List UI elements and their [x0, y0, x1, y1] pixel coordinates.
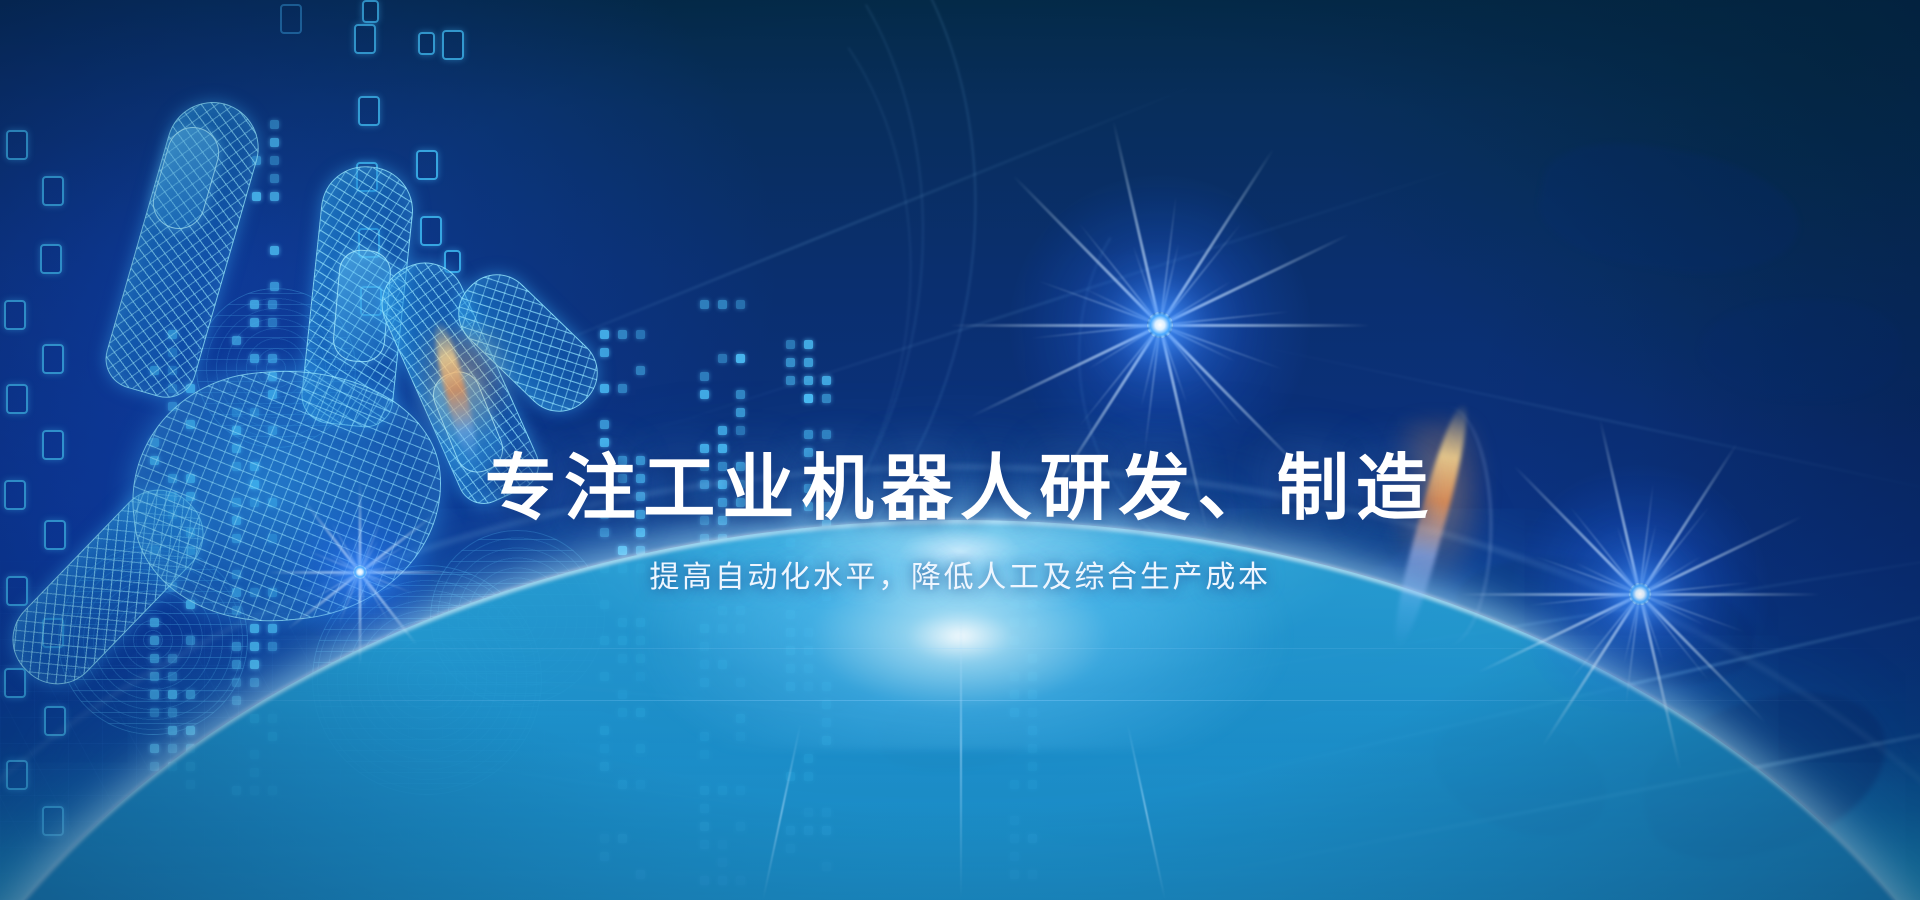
dot-matrix-column	[786, 340, 840, 880]
dot-matrix-column	[1010, 600, 1046, 900]
hero-banner: 专注工业机器人研发、制造 提高自动化水平，降低人工及综合生产成本	[0, 0, 1920, 900]
flare-core	[1147, 312, 1173, 338]
dot-matrix-column	[700, 300, 754, 900]
hero-text-block: 专注工业机器人研发、制造 提高自动化水平，降低人工及综合生产成本	[0, 452, 1920, 596]
page-title: 专注工业机器人研发、制造	[0, 452, 1920, 528]
warm-light-ribbon-left	[430, 318, 510, 468]
page-subtitle: 提高自动化水平，降低人工及综合生产成本	[0, 552, 1920, 596]
